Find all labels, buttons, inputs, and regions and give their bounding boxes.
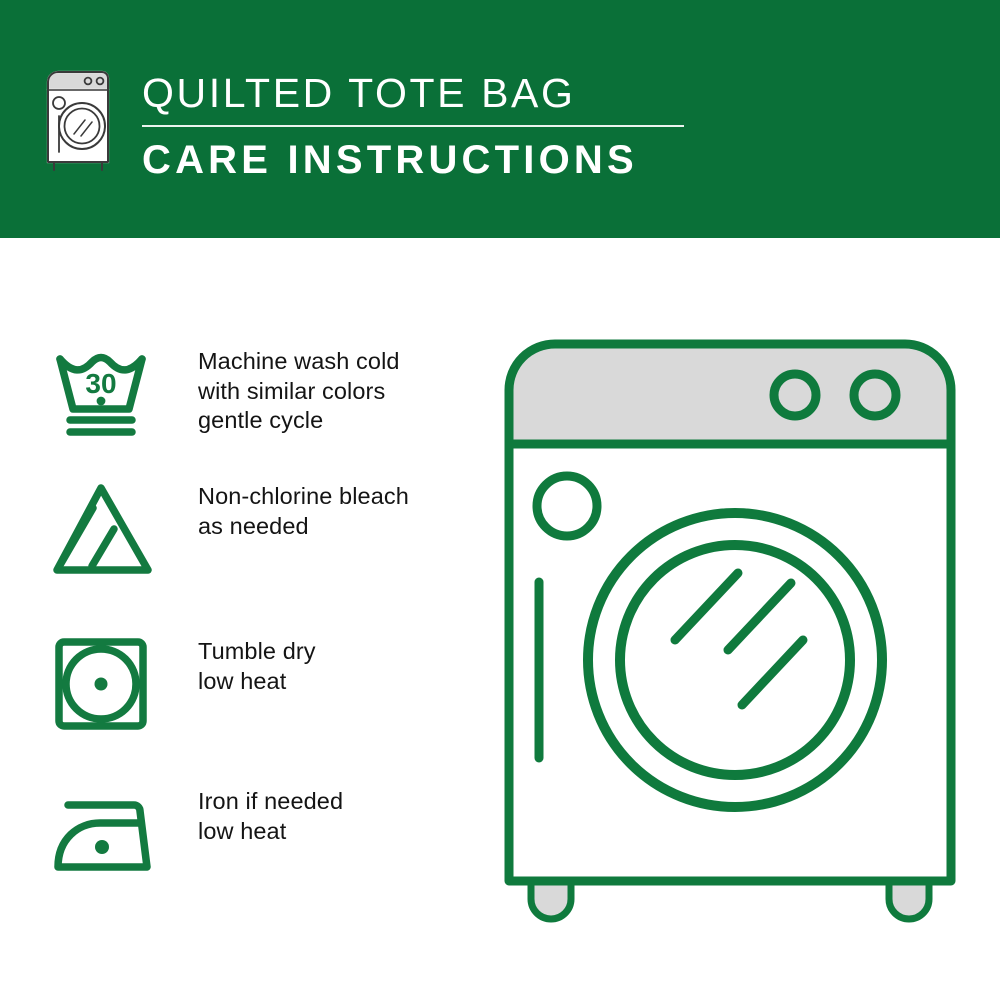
list-item: Non-chlorine bleach as needed [48,478,409,578]
tumble-dry-low-heat-icon [48,633,160,733]
list-item: Iron if needed low heat [48,783,343,883]
page-subtitle: CARE INSTRUCTIONS [142,136,742,184]
page-title: QUILTED TOTE BAG [142,66,742,120]
list-item: Tumble dry low heat [48,633,316,733]
header-text-block: QUILTED TOTE BAG CARE INSTRUCTIONS [142,66,742,184]
front-load-washing-machine-illustration [495,330,965,930]
list-item: 30 Machine wash cold with similar colors… [48,343,400,443]
instruction-list: 30 Machine wash cold with similar colors… [0,238,470,1000]
list-item-label: Iron if needed low heat [198,783,343,846]
list-item-label: Non-chlorine bleach as needed [198,478,409,541]
care-instructions-infographic: QUILTED TOTE BAG CARE INSTRUCTIONS 30 [0,0,1000,1000]
iron-low-heat-icon [48,783,160,883]
wash-tub-30-gentle-icon: 30 [48,343,160,443]
list-item-label: Tumble dry low heat [198,633,316,696]
title-divider [142,125,684,127]
list-item-label: Machine wash cold with similar colors ge… [198,343,400,436]
washing-machine-icon [44,68,110,172]
machine-control-panel [509,344,951,444]
header-band: QUILTED TOTE BAG CARE INSTRUCTIONS [0,0,1000,238]
triangle-non-chlorine-bleach-icon [48,478,160,578]
wash-temperature-label: 30 [85,368,116,399]
